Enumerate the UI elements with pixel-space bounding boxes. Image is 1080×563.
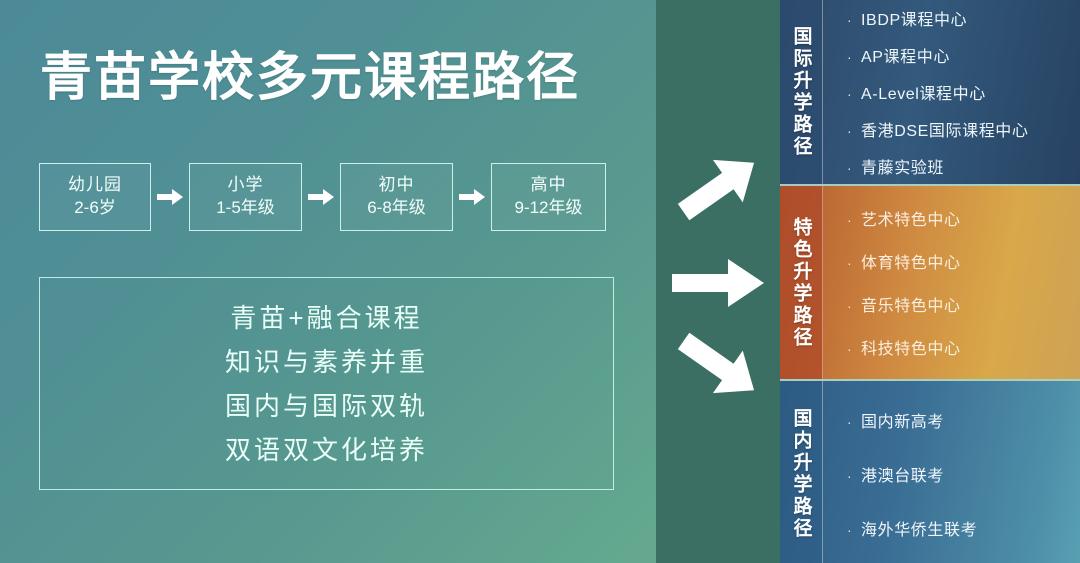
feature-line-2: 知识与素养并重	[225, 349, 428, 375]
stage-box-primary[interactable]: 小学 1-5年级	[189, 163, 302, 231]
bullet-icon: ·	[847, 160, 861, 176]
list-item-label: A-Level课程中心	[861, 80, 986, 104]
list-item-label: AP课程中心	[861, 43, 950, 67]
path-section-domestic[interactable]: 国内升学路径 · 国内新高考 · 港澳台联考 · 海外华侨生联考	[780, 381, 1080, 563]
list-item[interactable]: · 青藤实验班	[847, 154, 1072, 178]
stage-grades: 6-8年级	[367, 197, 426, 220]
path-label-international: 国际升学路径	[780, 0, 823, 184]
stage-box-high[interactable]: 高中 9-12年级	[491, 163, 606, 231]
feature-line-4: 双语双文化培养	[225, 437, 428, 463]
stage-name: 高中	[531, 174, 567, 197]
arrow-up-right-icon	[668, 138, 768, 238]
path-label-domestic: 国内升学路径	[780, 381, 823, 563]
feature-line-3: 国内与国际双轨	[225, 393, 428, 419]
bullet-icon: ·	[847, 414, 861, 430]
stage-grades: 9-12年级	[514, 197, 582, 220]
list-item[interactable]: · 科技特色中心	[847, 335, 1072, 359]
list-item[interactable]: · 音乐特色中心	[847, 292, 1072, 316]
stage-box-kindergarten[interactable]: 幼儿园 2-6岁	[39, 163, 151, 231]
arrow-down-right-icon	[668, 315, 768, 415]
list-item[interactable]: · 海外华侨生联考	[847, 516, 1072, 540]
path-section-specialty[interactable]: 特色升学路径 · 艺术特色中心 · 体育特色中心 · 音乐特色中心 · 科技特色…	[780, 186, 1080, 379]
stage-name: 幼儿园	[68, 174, 122, 197]
list-item[interactable]: · A-Level课程中心	[847, 80, 1072, 104]
arrow-right-icon	[302, 189, 340, 205]
list-item-label: IBDP课程中心	[861, 6, 967, 30]
list-item[interactable]: · 香港DSE国际课程中心	[847, 117, 1072, 141]
path-list-domestic: · 国内新高考 · 港澳台联考 · 海外华侨生联考	[823, 381, 1080, 563]
bullet-icon: ·	[847, 468, 861, 484]
feature-line-1: 青苗+融合课程	[230, 305, 422, 331]
list-item-label: 国内新高考	[861, 408, 944, 432]
path-section-international[interactable]: 国际升学路径 · IBDP课程中心 · AP课程中心 · A-Level课程中心…	[780, 0, 1080, 184]
bullet-icon: ·	[847, 298, 861, 314]
flow-arrow-band	[656, 0, 780, 563]
bullet-icon: ·	[847, 123, 861, 139]
list-item-label: 青藤实验班	[861, 154, 944, 178]
bullet-icon: ·	[847, 49, 861, 65]
list-item-label: 音乐特色中心	[861, 292, 961, 316]
stage-flow: 幼儿园 2-6岁 小学 1-5年级 初中 6-8年级	[39, 163, 606, 231]
stage-box-middle[interactable]: 初中 6-8年级	[340, 163, 453, 231]
path-list-international: · IBDP课程中心 · AP课程中心 · A-Level课程中心 · 香港DS…	[823, 0, 1080, 184]
infographic-poster: 青苗学校多元课程路径 幼儿园 2-6岁 小学 1-5年级	[0, 0, 1080, 563]
bullet-icon: ·	[847, 86, 861, 102]
bullet-icon: ·	[847, 255, 861, 271]
path-panels: 国际升学路径 · IBDP课程中心 · AP课程中心 · A-Level课程中心…	[780, 0, 1080, 563]
list-item[interactable]: · 国内新高考	[847, 408, 1072, 432]
bullet-icon: ·	[847, 12, 861, 28]
list-item[interactable]: · 体育特色中心	[847, 249, 1072, 273]
list-item[interactable]: · 港澳台联考	[847, 462, 1072, 486]
list-item-label: 体育特色中心	[861, 249, 961, 273]
arrow-right-icon	[151, 189, 189, 205]
stage-name: 小学	[228, 174, 264, 197]
path-list-specialty: · 艺术特色中心 · 体育特色中心 · 音乐特色中心 · 科技特色中心	[823, 186, 1080, 379]
arrow-right-icon	[453, 189, 491, 205]
page-title: 青苗学校多元课程路径	[40, 50, 580, 107]
stage-name: 初中	[379, 174, 415, 197]
list-item[interactable]: · IBDP课程中心	[847, 6, 1072, 30]
bullet-icon: ·	[847, 341, 861, 357]
list-item-label: 海外华侨生联考	[861, 516, 977, 540]
bullet-icon: ·	[847, 212, 861, 228]
list-item-label: 港澳台联考	[861, 462, 944, 486]
list-item-label: 艺术特色中心	[861, 206, 961, 230]
stage-grades: 1-5年级	[216, 197, 275, 220]
list-item[interactable]: · 艺术特色中心	[847, 206, 1072, 230]
path-label-specialty: 特色升学路径	[780, 186, 823, 379]
stage-grades: 2-6岁	[74, 197, 116, 220]
left-column: 青苗学校多元课程路径 幼儿园 2-6岁 小学 1-5年级	[0, 0, 656, 563]
list-item[interactable]: · AP课程中心	[847, 43, 1072, 67]
feature-box: 青苗+融合课程 知识与素养并重 国内与国际双轨 双语双文化培养	[39, 277, 614, 490]
arrow-right-icon	[670, 258, 766, 308]
list-item-label: 科技特色中心	[861, 335, 961, 359]
bullet-icon: ·	[847, 522, 861, 538]
list-item-label: 香港DSE国际课程中心	[861, 117, 1029, 141]
